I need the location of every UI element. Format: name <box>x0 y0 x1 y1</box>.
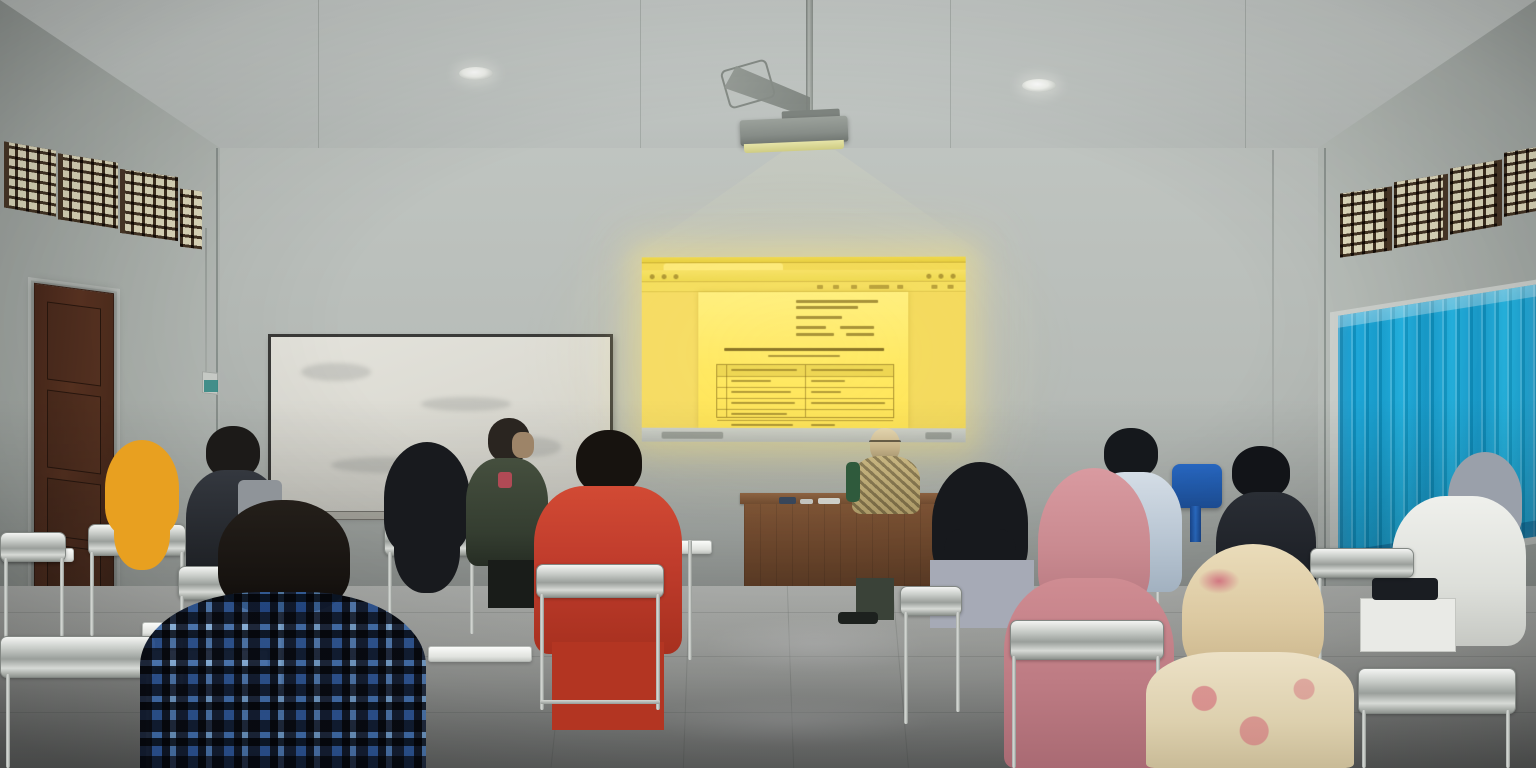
wooden-door[interactable] <box>34 283 114 624</box>
ceiling-seam <box>950 0 951 152</box>
downlight-icon <box>459 67 493 80</box>
ceiling-seam <box>1245 0 1246 152</box>
projected-doc-margin-left <box>642 292 699 428</box>
presenter <box>848 428 920 514</box>
download-icon[interactable] <box>833 285 839 289</box>
presenter-sleeve <box>846 462 860 502</box>
chair-leg <box>1362 710 1366 768</box>
presenter-body <box>852 456 920 514</box>
desk-item-papers[interactable] <box>818 498 840 504</box>
wall-conduit <box>1272 150 1274 450</box>
projected-table <box>716 364 894 418</box>
chair-leg <box>60 558 64 640</box>
chair-backrest[interactable] <box>0 532 66 562</box>
chair-backrest[interactable] <box>1010 620 1164 660</box>
teal-wall-marker-icon <box>204 380 218 392</box>
fit-page-icon[interactable] <box>931 285 937 289</box>
breeze-block-vent <box>1394 174 1448 249</box>
chair-backrest[interactable] <box>900 586 962 616</box>
ceiling-seam <box>640 0 641 152</box>
desk-item-phone[interactable] <box>779 497 796 504</box>
chair-crossbar <box>540 700 660 704</box>
blue-chair-stem <box>1190 506 1201 542</box>
zoom-level-field[interactable] <box>869 285 889 289</box>
chair-backrest[interactable] <box>536 564 664 598</box>
desk-item-marker[interactable] <box>800 499 813 504</box>
print-icon[interactable] <box>817 285 823 289</box>
classroom-photo: Classroom seminar presentation Audience … <box>0 0 1536 768</box>
attendee-cream-hijab <box>1146 544 1354 768</box>
breeze-block-vent <box>4 141 56 216</box>
chair-backrest[interactable] <box>0 636 156 678</box>
forward-icon[interactable] <box>662 274 667 279</box>
stacked-papers <box>1360 598 1456 652</box>
chair-leg <box>90 552 94 636</box>
projected-document <box>698 292 908 428</box>
zoom-out-icon[interactable] <box>851 285 857 289</box>
chair-leg <box>540 594 544 710</box>
chair-leg <box>688 540 692 660</box>
downlight-icon <box>1022 79 1056 92</box>
presenter-shoes <box>838 612 878 624</box>
menu-icon[interactable] <box>951 274 956 279</box>
tablet-arm-desk <box>428 646 532 662</box>
breeze-block-vent <box>1504 147 1536 217</box>
breeze-block-vent <box>1450 159 1502 234</box>
breeze-block-vent <box>120 169 178 241</box>
browser-address-bar[interactable] <box>642 270 966 283</box>
chair-leg <box>6 674 10 768</box>
wall-conduit <box>205 228 207 378</box>
ceiling-seam <box>318 0 319 152</box>
bag <box>1372 578 1438 600</box>
profile-icon[interactable] <box>938 274 943 279</box>
zoom-in-icon[interactable] <box>897 285 903 289</box>
breeze-block-vent <box>180 189 202 250</box>
chair-leg <box>904 612 908 724</box>
back-icon[interactable] <box>650 274 655 279</box>
breeze-block-vent <box>1340 186 1392 257</box>
chair-leg <box>1012 656 1016 768</box>
chair-leg <box>656 594 660 710</box>
more-options-icon[interactable] <box>948 285 954 289</box>
projection-screen <box>642 257 966 443</box>
extension-icon[interactable] <box>926 274 931 279</box>
chair-leg <box>956 612 960 712</box>
reload-icon[interactable] <box>673 274 678 279</box>
attendee-plaid-shirt <box>140 500 426 768</box>
projected-doc-margin-right <box>908 292 965 429</box>
chair-leg <box>1506 710 1510 768</box>
eyeglasses-icon <box>869 440 901 446</box>
document-toolbar[interactable] <box>642 282 966 293</box>
breeze-block-vent <box>58 153 118 229</box>
chair-backrest[interactable] <box>1358 668 1516 714</box>
chair-leg <box>4 558 8 640</box>
